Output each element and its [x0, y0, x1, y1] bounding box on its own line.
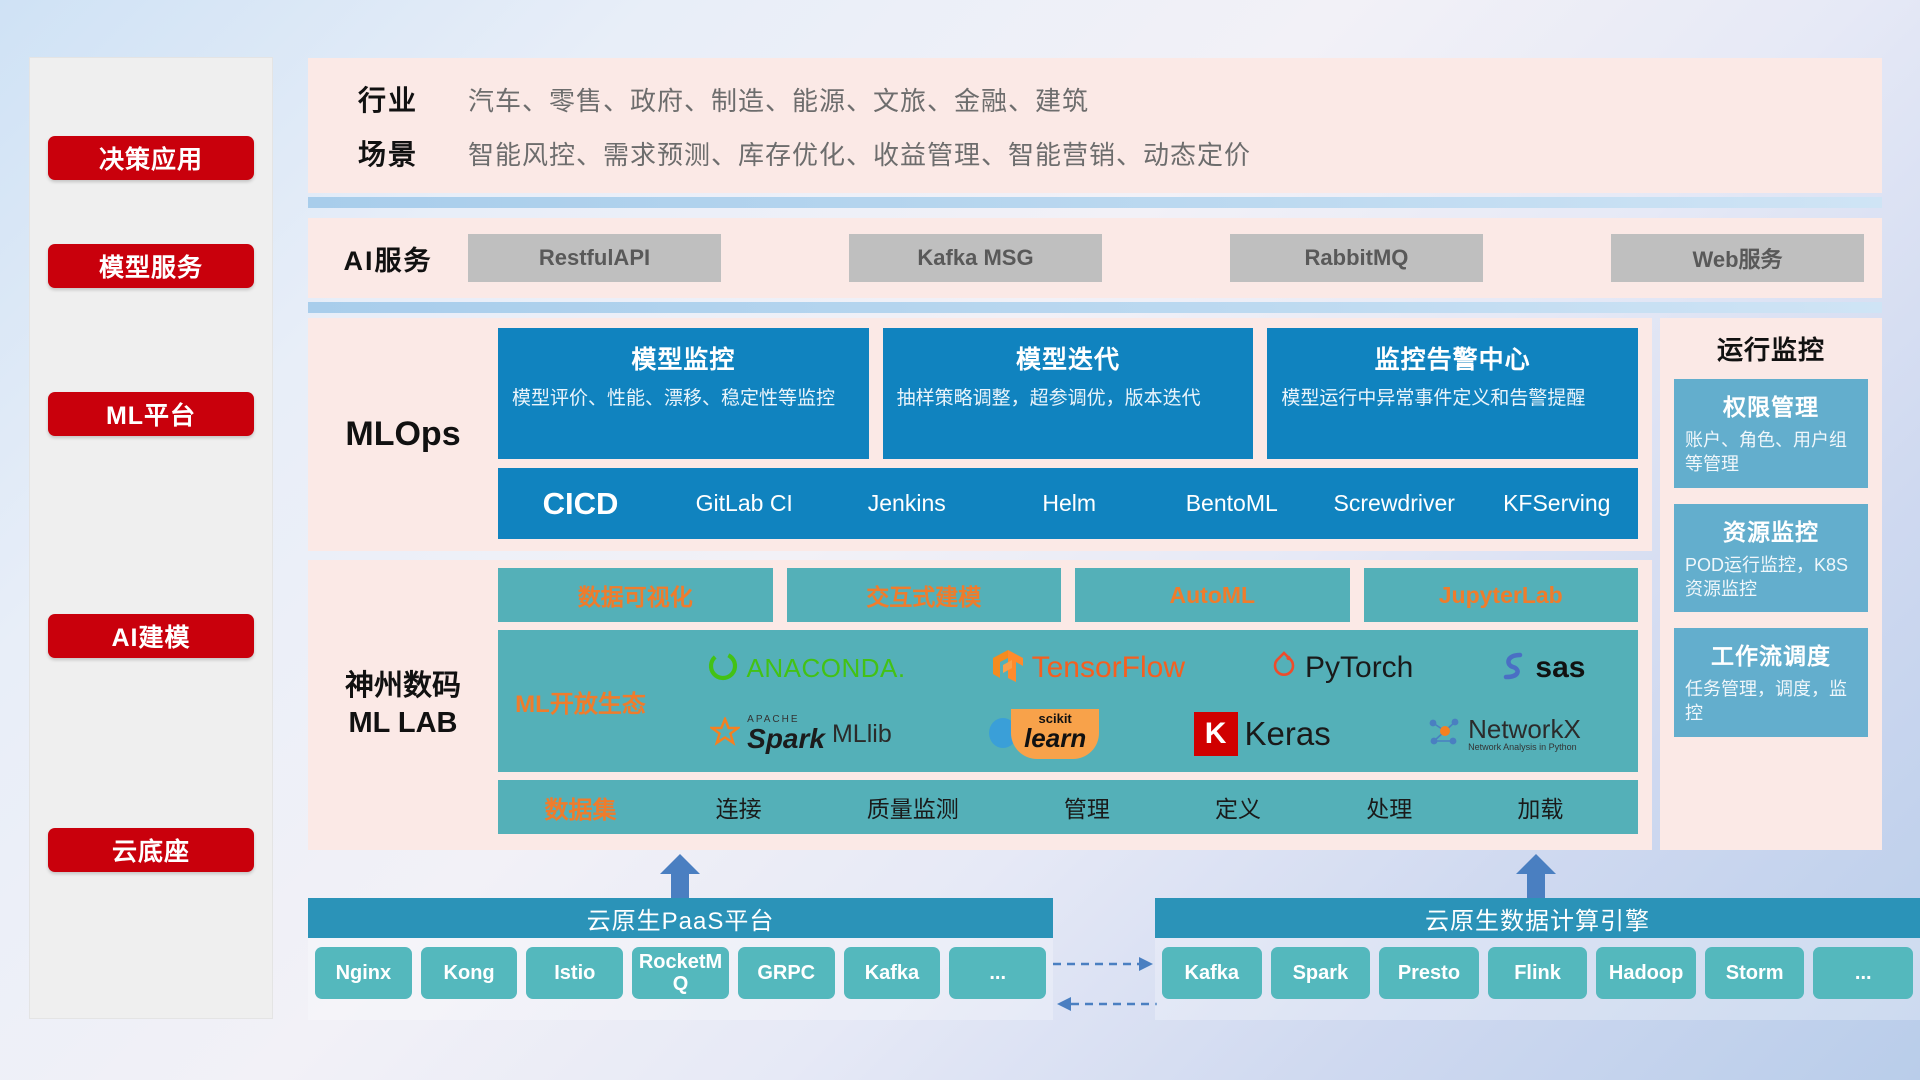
cicd-items: GitLab CI Jenkins Helm BentoML Screwdriv…: [663, 489, 1638, 519]
data-engine-chips: Kafka Spark Presto Flink Hadoop Storm ..…: [1155, 938, 1920, 1008]
chip-kafka[interactable]: Kafka: [1162, 947, 1262, 999]
up-arrow-data-engine-icon: [1513, 852, 1559, 898]
ai-button-web-service[interactable]: Web服务: [1611, 234, 1864, 282]
chip-rocketmq[interactable]: RocketMQ: [632, 947, 729, 999]
chip-nginx[interactable]: Nginx: [315, 947, 412, 999]
tensorflow-wordmark: TensorFlow: [1032, 651, 1185, 685]
ml-lab-content: 数据可视化 交互式建模 AutoML JupyterLab ML开放生态 ANA…: [498, 560, 1652, 850]
cicd-item-gitlab-ci[interactable]: GitLab CI: [663, 489, 826, 519]
industry-row: 行业 汽车、零售、政府、制造、能源、文旅、金融、建筑: [308, 72, 1882, 126]
logo-anaconda: ANACONDA.: [706, 649, 906, 688]
keras-icon: K: [1194, 712, 1238, 756]
rail-label: 决策应用: [99, 140, 203, 176]
mllib-wordmark: MLlib: [832, 720, 892, 749]
logo-spark-mllib: APACHE Spark MLlib: [710, 715, 892, 753]
dataset-label: 数据集: [498, 790, 663, 825]
chip-presto[interactable]: Presto: [1379, 947, 1479, 999]
data-engine-foundation: 云原生数据计算引擎 Kafka Spark Presto Flink Hadoo…: [1155, 898, 1920, 1020]
spark-wordmark: Spark: [747, 725, 825, 753]
card-desc: 抽样策略调整，超参调优，版本迭代: [897, 386, 1240, 413]
rail-item-decision-apps[interactable]: 决策应用: [48, 136, 254, 180]
ml-ecosystem-bar: ML开放生态 ANACONDA.: [498, 630, 1638, 772]
cicd-item-jenkins[interactable]: Jenkins: [826, 489, 989, 519]
bidirectional-link-icon: [1053, 950, 1157, 1018]
card-desc: 任务管理，调度，监控: [1685, 677, 1857, 726]
tool-automl[interactable]: AutoML: [1075, 568, 1350, 622]
mlops-content: 模型监控 模型评价、性能、漂移、稳定性等监控 模型迭代 抽样策略调整，超参调优，…: [498, 318, 1652, 551]
card-title: 模型监控: [512, 340, 855, 376]
card-desc: 模型评价、性能、漂移、稳定性等监控: [512, 386, 855, 413]
tool-interactive-modeling[interactable]: 交互式建模: [787, 568, 1062, 622]
dataset-item-quality[interactable]: 质量监测: [867, 790, 959, 824]
card-desc: 账户、角色、用户组等管理: [1685, 428, 1857, 477]
anaconda-wordmark: ANACONDA.: [747, 653, 906, 684]
chip-flink[interactable]: Flink: [1488, 947, 1588, 999]
rail-label: ML平台: [106, 396, 196, 432]
ai-button-restfulapi[interactable]: RestfulAPI: [468, 234, 721, 282]
logo-keras: K Keras: [1194, 712, 1331, 756]
card-title: 模型迭代: [897, 340, 1240, 376]
rail-label: 云底座: [112, 832, 190, 868]
learn-text: learn: [1024, 725, 1086, 751]
rail-item-ml-platform[interactable]: ML平台: [48, 392, 254, 436]
ai-button-rabbitmq[interactable]: RabbitMQ: [1230, 234, 1483, 282]
ml-lab-label: 神州数码ML LAB: [345, 668, 461, 742]
card-title: 工作流调度: [1685, 637, 1857, 671]
card-desc: POD运行监控，K8S资源监控: [1685, 553, 1857, 602]
sas-icon: [1498, 649, 1528, 688]
networkx-wordmark-wrap: NetworkX Network Analysis in Python: [1468, 716, 1581, 753]
monitoring-title: 运行监控: [1674, 330, 1868, 367]
pytorch-wordmark: PyTorch: [1305, 651, 1413, 685]
card-title: 监控告警中心: [1281, 340, 1624, 376]
up-arrow-paas-icon: [657, 852, 703, 898]
ml-lab-label-wrap: 神州数码ML LAB: [308, 560, 498, 850]
logo-networkx: NetworkX Network Analysis in Python: [1425, 715, 1581, 754]
logo-scikit-learn: scikit learn: [986, 709, 1099, 759]
pytorch-icon: [1270, 649, 1298, 688]
chip-istio[interactable]: Istio: [526, 947, 623, 999]
dataset-item-define[interactable]: 定义: [1215, 790, 1261, 824]
mlops-card-model-iteration[interactable]: 模型迭代 抽样策略调整，超参调优，版本迭代: [883, 328, 1254, 459]
card-title: 权限管理: [1685, 388, 1857, 422]
rail-label: AI建模: [111, 618, 190, 654]
cicd-item-screwdriver[interactable]: Screwdriver: [1313, 489, 1476, 519]
mlops-band: MLOps 模型监控 模型评价、性能、漂移、稳定性等监控 模型迭代 抽样策略调整…: [308, 318, 1652, 551]
anaconda-icon: [706, 649, 740, 688]
dataset-item-connect[interactable]: 连接: [716, 790, 762, 824]
chip-hadoop[interactable]: Hadoop: [1596, 947, 1696, 999]
logo-row-1: ANACONDA. TensorFlow: [663, 637, 1628, 699]
rail-item-ai-modeling[interactable]: AI建模: [48, 614, 254, 658]
ml-lab-label-line2: ML LAB: [348, 707, 457, 739]
cicd-title: CICD: [498, 486, 663, 522]
cicd-item-helm[interactable]: Helm: [988, 489, 1151, 519]
networkx-tagline: Network Analysis in Python: [1468, 743, 1581, 752]
ai-service-label: AI服务: [308, 239, 468, 278]
ai-button-kafka-msg[interactable]: Kafka MSG: [849, 234, 1102, 282]
logo-sas: sas: [1498, 649, 1585, 688]
chip-grpc[interactable]: GRPC: [738, 947, 835, 999]
industry-values: 汽车、零售、政府、制造、能源、文旅、金融、建筑: [468, 81, 1089, 118]
band-separator-1: [308, 197, 1882, 208]
ml-ecosystem-logos: ANACONDA. TensorFlow: [663, 637, 1638, 765]
scene-label: 场景: [308, 133, 468, 173]
ml-ecosystem-label: ML开放生态: [498, 684, 663, 719]
paas-foundation: 云原生PaaS平台 Nginx Kong Istio RocketMQ GRPC…: [308, 898, 1053, 1020]
chip-kong[interactable]: Kong: [421, 947, 518, 999]
monitor-card-workflow[interactable]: 工作流调度 任务管理，调度，监控: [1674, 628, 1868, 737]
ml-lab-band: 神州数码ML LAB 数据可视化 交互式建模 AutoML JupyterLab…: [308, 560, 1652, 850]
layer-rail: 决策应用 模型服务 ML平台 AI建模 云底座: [30, 58, 272, 1018]
cicd-bar: CICD GitLab CI Jenkins Helm BentoML Scre…: [498, 468, 1638, 539]
scikit-orange-blob: scikit learn: [1011, 709, 1099, 759]
ai-service-band: AI服务 RestfulAPI Kafka MSG RabbitMQ Web服务: [308, 218, 1882, 298]
cicd-item-kfserving[interactable]: KFServing: [1476, 489, 1639, 519]
chip-spark[interactable]: Spark: [1271, 947, 1371, 999]
card-title: 资源监控: [1685, 513, 1857, 547]
ml-lab-label-line1: 神州数码: [345, 670, 461, 702]
runtime-monitoring-band: 运行监控 权限管理 账户、角色、用户组等管理 资源监控 POD运行监控，K8S资…: [1660, 318, 1882, 850]
tool-jupyterlab[interactable]: JupyterLab: [1364, 568, 1639, 622]
sas-wordmark: sas: [1535, 651, 1585, 685]
mlops-label: MLOps: [345, 415, 460, 454]
rail-item-cloud-base[interactable]: 云底座: [48, 828, 254, 872]
tensorflow-icon: [991, 648, 1025, 689]
card-desc: 模型运行中异常事件定义和告警提醒: [1281, 386, 1624, 413]
dataset-bar: 数据集 连接 质量监测 管理 定义 处理 加载: [498, 780, 1638, 834]
tool-data-visualization[interactable]: 数据可视化: [498, 568, 773, 622]
logo-pytorch: PyTorch: [1270, 649, 1413, 688]
ml-lab-tools: 数据可视化 交互式建模 AutoML JupyterLab: [498, 568, 1638, 622]
rail-label: 模型服务: [99, 248, 203, 284]
chip-more[interactable]: ...: [949, 947, 1046, 999]
networkx-wordmark: NetworkX: [1468, 716, 1581, 743]
spark-star-icon: [710, 717, 740, 752]
scene-row: 场景 智能风控、需求预测、库存优化、收益管理、智能营销、动态定价: [308, 126, 1882, 180]
data-engine-title: 云原生数据计算引擎: [1155, 898, 1920, 938]
monitor-card-resources[interactable]: 资源监控 POD运行监控，K8S资源监控: [1674, 504, 1868, 613]
scene-values: 智能风控、需求预测、库存优化、收益管理、智能营销、动态定价: [468, 135, 1251, 172]
mlops-label-wrap: MLOps: [308, 318, 498, 551]
networkx-icon: [1425, 715, 1461, 754]
mlops-card-alert-center[interactable]: 监控告警中心 模型运行中异常事件定义和告警提醒: [1267, 328, 1638, 459]
chip-more[interactable]: ...: [1813, 947, 1913, 999]
spark-wordmark-wrap: APACHE Spark: [747, 715, 825, 753]
logo-tensorflow: TensorFlow: [991, 648, 1185, 689]
chip-storm[interactable]: Storm: [1705, 947, 1805, 999]
mlops-card-model-monitoring[interactable]: 模型监控 模型评价、性能、漂移、稳定性等监控: [498, 328, 869, 459]
ai-service-buttons: RestfulAPI Kafka MSG RabbitMQ Web服务: [468, 234, 1882, 282]
keras-wordmark: Keras: [1245, 715, 1331, 753]
dataset-item-load[interactable]: 加载: [1517, 790, 1563, 824]
band-separator-2: [308, 302, 1882, 313]
dataset-item-process[interactable]: 处理: [1366, 790, 1412, 824]
paas-chips: Nginx Kong Istio RocketMQ GRPC Kafka ...: [308, 938, 1053, 1008]
rail-item-model-service[interactable]: 模型服务: [48, 244, 254, 288]
decision-apps-band: 行业 汽车、零售、政府、制造、能源、文旅、金融、建筑 场景 智能风控、需求预测、…: [308, 58, 1882, 193]
dataset-items: 连接 质量监测 管理 定义 处理 加载: [663, 790, 1638, 824]
monitor-card-permissions[interactable]: 权限管理 账户、角色、用户组等管理: [1674, 379, 1868, 488]
architecture-diagram: 决策应用 模型服务 ML平台 AI建模 云底座 行业 汽车、零售、政府、制造、能…: [0, 0, 1920, 1080]
dataset-item-manage[interactable]: 管理: [1064, 790, 1110, 824]
paas-title: 云原生PaaS平台: [308, 898, 1053, 938]
industry-label: 行业: [308, 79, 468, 119]
cicd-item-bentoml[interactable]: BentoML: [1151, 489, 1314, 519]
logo-row-2: APACHE Spark MLlib scikit learn: [663, 703, 1628, 765]
chip-kafka[interactable]: Kafka: [844, 947, 941, 999]
mlops-cards: 模型监控 模型评价、性能、漂移、稳定性等监控 模型迭代 抽样策略调整，超参调优，…: [498, 328, 1638, 459]
